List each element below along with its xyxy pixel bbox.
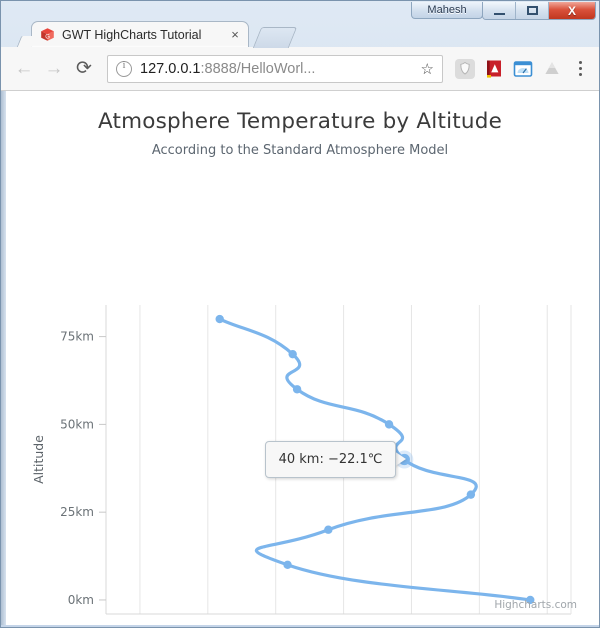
svg-text:G: G (45, 34, 50, 40)
window-controls: X (482, 2, 596, 20)
series-point[interactable] (324, 526, 332, 534)
back-arrow-icon: ← (15, 58, 34, 80)
google-drive-icon[interactable] (539, 56, 565, 82)
series-point[interactable] (293, 385, 301, 393)
back-button[interactable]: ← (9, 54, 39, 84)
minimize-icon (494, 13, 505, 15)
browser-window: Mahesh X G GWT HighCh (0, 0, 600, 628)
x-tick-label: -60° (263, 624, 289, 625)
reload-icon: ⟳ (76, 57, 92, 80)
series-point[interactable] (216, 315, 224, 323)
url-host: 127.0.0.1 (140, 61, 200, 77)
x-tick-label: -20° (399, 624, 425, 625)
y-tick-label: 75km (60, 330, 94, 344)
x-tick-label: -40° (331, 624, 357, 625)
y-axis-title: Altitude (31, 435, 46, 484)
close-window-button[interactable]: X (549, 2, 595, 19)
browser-toolbar: ← → ⟳ 127.0.0.1:8888/HelloWorl... ☆ (1, 47, 599, 91)
highcharts-credit[interactable]: Highcharts.com (494, 599, 577, 611)
tooltip-text: 40 km: −22.1℃ (279, 452, 383, 467)
series-point[interactable] (467, 490, 475, 498)
close-icon: X (568, 4, 576, 18)
maximize-button[interactable] (516, 2, 549, 19)
menu-dot-icon (579, 73, 582, 76)
minimize-button[interactable] (483, 2, 516, 19)
gwt-favicon: G (40, 27, 55, 42)
y-tick-label: 0km (68, 593, 94, 607)
dashboard-extension-icon[interactable] (510, 56, 536, 82)
chart-tooltip: 40 km: −22.1℃ (265, 441, 396, 478)
url-path: :8888/HelloWorl... (200, 61, 315, 77)
series-point[interactable] (288, 350, 296, 358)
chart-plot: 0km25km50km75km-100°-80°-60°-40°-20°0°20… (1, 91, 599, 625)
y-tick-label: 50km (60, 417, 94, 431)
tab-gwt-highcharts-tutorial[interactable]: G GWT HighCharts Tutorial × (31, 21, 249, 47)
y-tick-label: 25km (60, 505, 94, 519)
forward-arrow-icon: → (45, 58, 64, 80)
bookmark-star-icon[interactable]: ☆ (421, 60, 434, 78)
x-tick-label: -80° (195, 624, 221, 625)
maximize-icon (527, 6, 538, 15)
chrome-menu-button[interactable] (569, 56, 591, 82)
chart-svg: 0km25km50km75km-100°-80°-60°-40°-20°0°20… (1, 91, 599, 625)
adobe-reader-icon[interactable] (481, 56, 507, 82)
new-tab-button[interactable] (253, 27, 297, 48)
forward-button[interactable]: → (39, 54, 69, 84)
site-info-icon[interactable] (116, 61, 132, 77)
reload-button[interactable]: ⟳ (69, 54, 99, 84)
page-viewport: Atmosphere Temperature by Altitude Accor… (1, 91, 599, 625)
close-tab-icon[interactable]: × (228, 28, 242, 42)
tab-strip: G GWT HighCharts Tutorial × (1, 19, 599, 47)
address-bar[interactable]: 127.0.0.1:8888/HelloWorl... ☆ (107, 55, 443, 83)
x-tick-label: 0° (473, 624, 487, 625)
menu-dot-icon (579, 61, 582, 64)
shield-extension-icon[interactable] (452, 56, 478, 82)
tab-title: GWT HighCharts Tutorial (62, 28, 228, 42)
series-point[interactable] (385, 420, 393, 428)
window-titlebar: Mahesh X (1, 1, 599, 19)
menu-dot-icon (579, 67, 582, 70)
x-tick-label: 20° (537, 624, 558, 625)
user-profile-label: Mahesh (427, 4, 466, 16)
url-text: 127.0.0.1:8888/HelloWorl... (140, 61, 415, 77)
user-profile-chip[interactable]: Mahesh (411, 2, 483, 19)
series-point[interactable] (283, 561, 291, 569)
x-tick-label: -100° (123, 624, 156, 625)
